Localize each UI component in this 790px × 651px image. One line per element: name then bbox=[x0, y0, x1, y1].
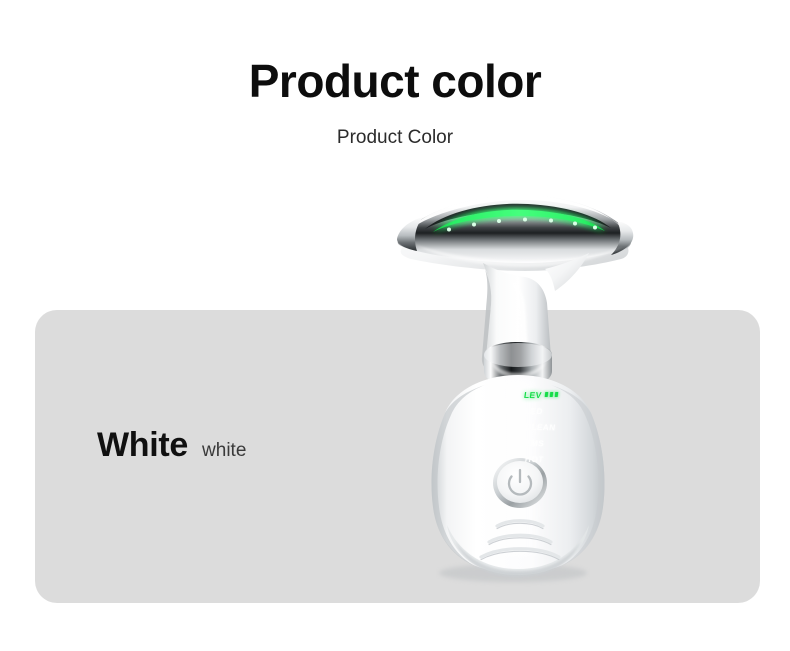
color-name: White bbox=[97, 428, 188, 462]
led-dot bbox=[472, 223, 476, 227]
header: Product color Product Color bbox=[0, 0, 790, 147]
led-dot bbox=[497, 219, 501, 223]
power-button[interactable] bbox=[493, 458, 547, 508]
led-dot bbox=[549, 219, 553, 223]
product-image-device: LEV LED CLEAN EMS HOT bbox=[385, 185, 645, 585]
color-name-secondary: white bbox=[202, 441, 246, 460]
page-title: Product color bbox=[0, 58, 790, 104]
led-dot bbox=[447, 228, 451, 232]
page-subtitle: Product Color bbox=[0, 128, 790, 147]
product-color-page: Product color Product Color White white bbox=[0, 0, 790, 651]
led-dot bbox=[523, 218, 527, 222]
led-dot bbox=[593, 226, 597, 230]
color-swatch-label: White white bbox=[97, 428, 246, 462]
led-dot bbox=[573, 222, 577, 226]
device-collar-top bbox=[484, 343, 552, 367]
